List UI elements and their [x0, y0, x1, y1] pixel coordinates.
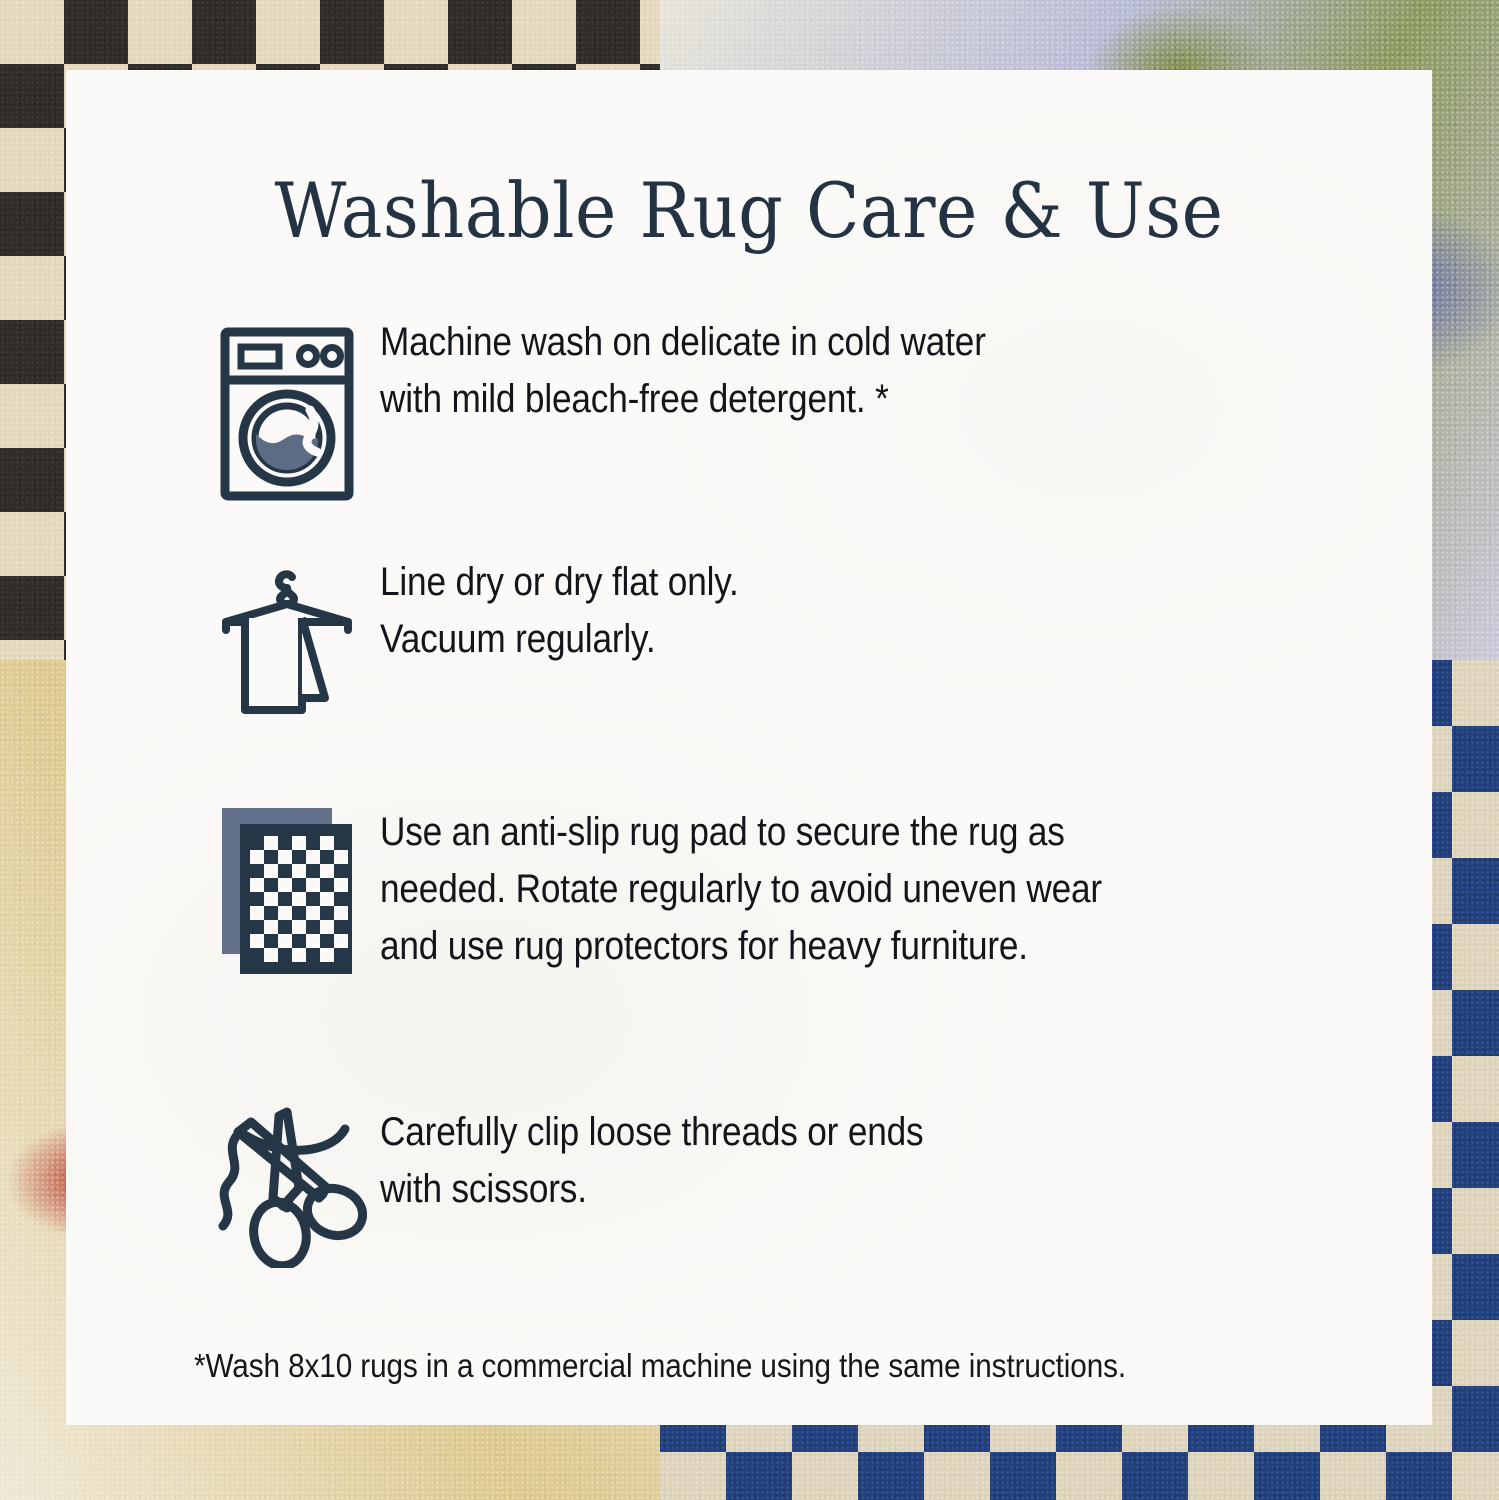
- graphic-canvas: Washable Rug Care & Use: [0, 0, 1499, 1500]
- instruction-icon-cell: [194, 800, 380, 976]
- instruction-text: Use an anti-slip rug pad to secure the r…: [380, 800, 1102, 974]
- instruction-row: Use an anti-slip rug pad to secure the r…: [194, 800, 1372, 976]
- instruction-text: Carefully clip loose threads or ends wit…: [380, 1100, 923, 1218]
- checkerboard-rug-pad-icon: [220, 806, 354, 976]
- instruction-text: Line dry or dry flat only. Vacuum regula…: [380, 550, 739, 668]
- scissors-with-thread-icon: [207, 1102, 367, 1268]
- instruction-row: Carefully clip loose threads or ends wit…: [194, 1100, 1372, 1268]
- instruction-icon-cell: [194, 550, 380, 722]
- instruction-row: Machine wash on delicate in cold water w…: [194, 310, 1372, 502]
- care-instructions-card: Washable Rug Care & Use: [66, 70, 1432, 1425]
- page-title: Washable Rug Care & Use: [121, 166, 1378, 255]
- instruction-icon-cell: [194, 1100, 380, 1268]
- instruction-row: Line dry or dry flat only. Vacuum regula…: [194, 550, 1372, 722]
- washing-machine-icon: [219, 326, 355, 502]
- instruction-icon-cell: [194, 310, 380, 502]
- instruction-text: Machine wash on delicate in cold water w…: [380, 310, 986, 428]
- hanger-with-cloth-icon: [212, 562, 362, 722]
- footnote-text: *Wash 8x10 rugs in a commercial machine …: [194, 1345, 1254, 1388]
